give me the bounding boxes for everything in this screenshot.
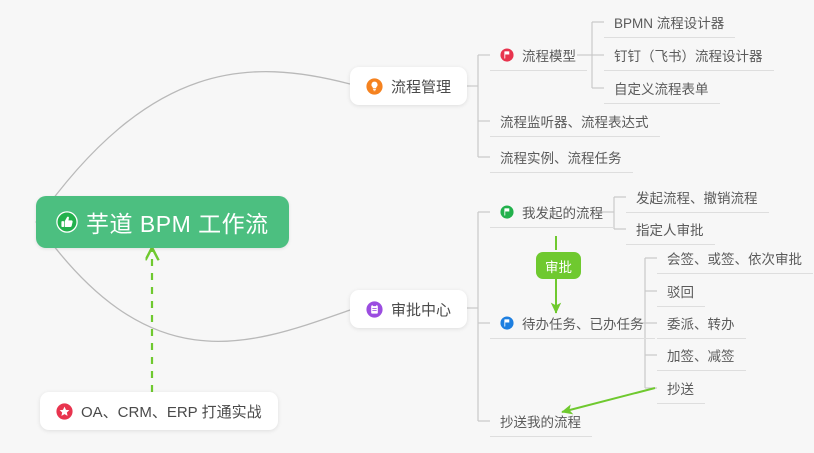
note-integration[interactable]: OA、CRM、ERP 打通实战	[40, 392, 278, 430]
node-label: 会签、或签、依次审批	[667, 248, 802, 268]
node-label: 流程实例、流程任务	[500, 147, 622, 167]
node-countersign-orsign-sequential[interactable]: 会签、或签、依次审批	[657, 243, 813, 274]
node-label: 自定义流程表单	[614, 78, 709, 98]
node-delegate-transfer[interactable]: 委派、转办	[657, 308, 746, 339]
node-label: 驳回	[667, 281, 694, 301]
node-todo-done-tasks[interactable]: 待办任务、已办任务	[490, 308, 655, 339]
tag-label: 审批	[545, 256, 572, 276]
clipboard-icon	[366, 301, 383, 318]
node-cc-to-me[interactable]: 抄送我的流程	[490, 406, 592, 437]
node-dingtalk-feishu-designer[interactable]: 钉钉（飞书）流程设计器	[604, 40, 774, 71]
node-reject[interactable]: 驳回	[657, 276, 705, 307]
branch-approval-center[interactable]: 审批中心	[350, 290, 467, 328]
branch-label: 审批中心	[391, 299, 451, 320]
node-start-cancel-process[interactable]: 发起流程、撤销流程	[626, 182, 769, 213]
branch-label: 流程管理	[391, 76, 451, 97]
node-label: 钉钉（飞书）流程设计器	[614, 45, 763, 65]
node-my-initiated-process[interactable]: 我发起的流程	[490, 197, 614, 228]
node-label: 发起流程、撤销流程	[636, 187, 758, 207]
node-label: 指定人审批	[636, 219, 704, 239]
root-label: 芋道 BPM 工作流	[86, 205, 269, 239]
node-bpmn-designer[interactable]: BPMN 流程设计器	[604, 7, 735, 38]
root-node[interactable]: 芋道 BPM 工作流	[36, 196, 289, 248]
node-listener-expression[interactable]: 流程监听器、流程表达式	[490, 106, 660, 137]
thumbs-up-icon	[56, 211, 78, 233]
flag-icon	[500, 205, 514, 219]
node-cc[interactable]: 抄送	[657, 373, 705, 404]
node-label: 流程模型	[522, 45, 576, 65]
lightbulb-icon	[366, 78, 383, 95]
node-assignee-approval[interactable]: 指定人审批	[626, 214, 715, 245]
node-label: 抄送	[667, 378, 694, 398]
node-instance-task[interactable]: 流程实例、流程任务	[490, 142, 633, 173]
node-label: 委派、转办	[667, 313, 735, 333]
node-label: 加签、减签	[667, 345, 735, 365]
node-label: 抄送我的流程	[500, 411, 581, 431]
node-label: 流程监听器、流程表达式	[500, 111, 649, 131]
tag-approval[interactable]: 审批	[536, 252, 581, 279]
mindmap-canvas: 芋道 BPM 工作流 流程管理 流程模型 BPMN 流程设计器 钉钉（飞书）流	[0, 0, 814, 453]
node-label: BPMN 流程设计器	[614, 12, 724, 32]
node-custom-process-form[interactable]: 自定义流程表单	[604, 73, 720, 104]
node-add-remove-sign[interactable]: 加签、减签	[657, 340, 746, 371]
star-icon	[56, 403, 73, 420]
node-process-model[interactable]: 流程模型	[490, 40, 587, 71]
flag-icon	[500, 316, 514, 330]
branch-process-management[interactable]: 流程管理	[350, 67, 467, 105]
note-label: OA、CRM、ERP 打通实战	[81, 401, 262, 422]
node-label: 待办任务、已办任务	[522, 313, 644, 333]
node-label: 我发起的流程	[522, 202, 603, 222]
flag-icon	[500, 48, 514, 62]
